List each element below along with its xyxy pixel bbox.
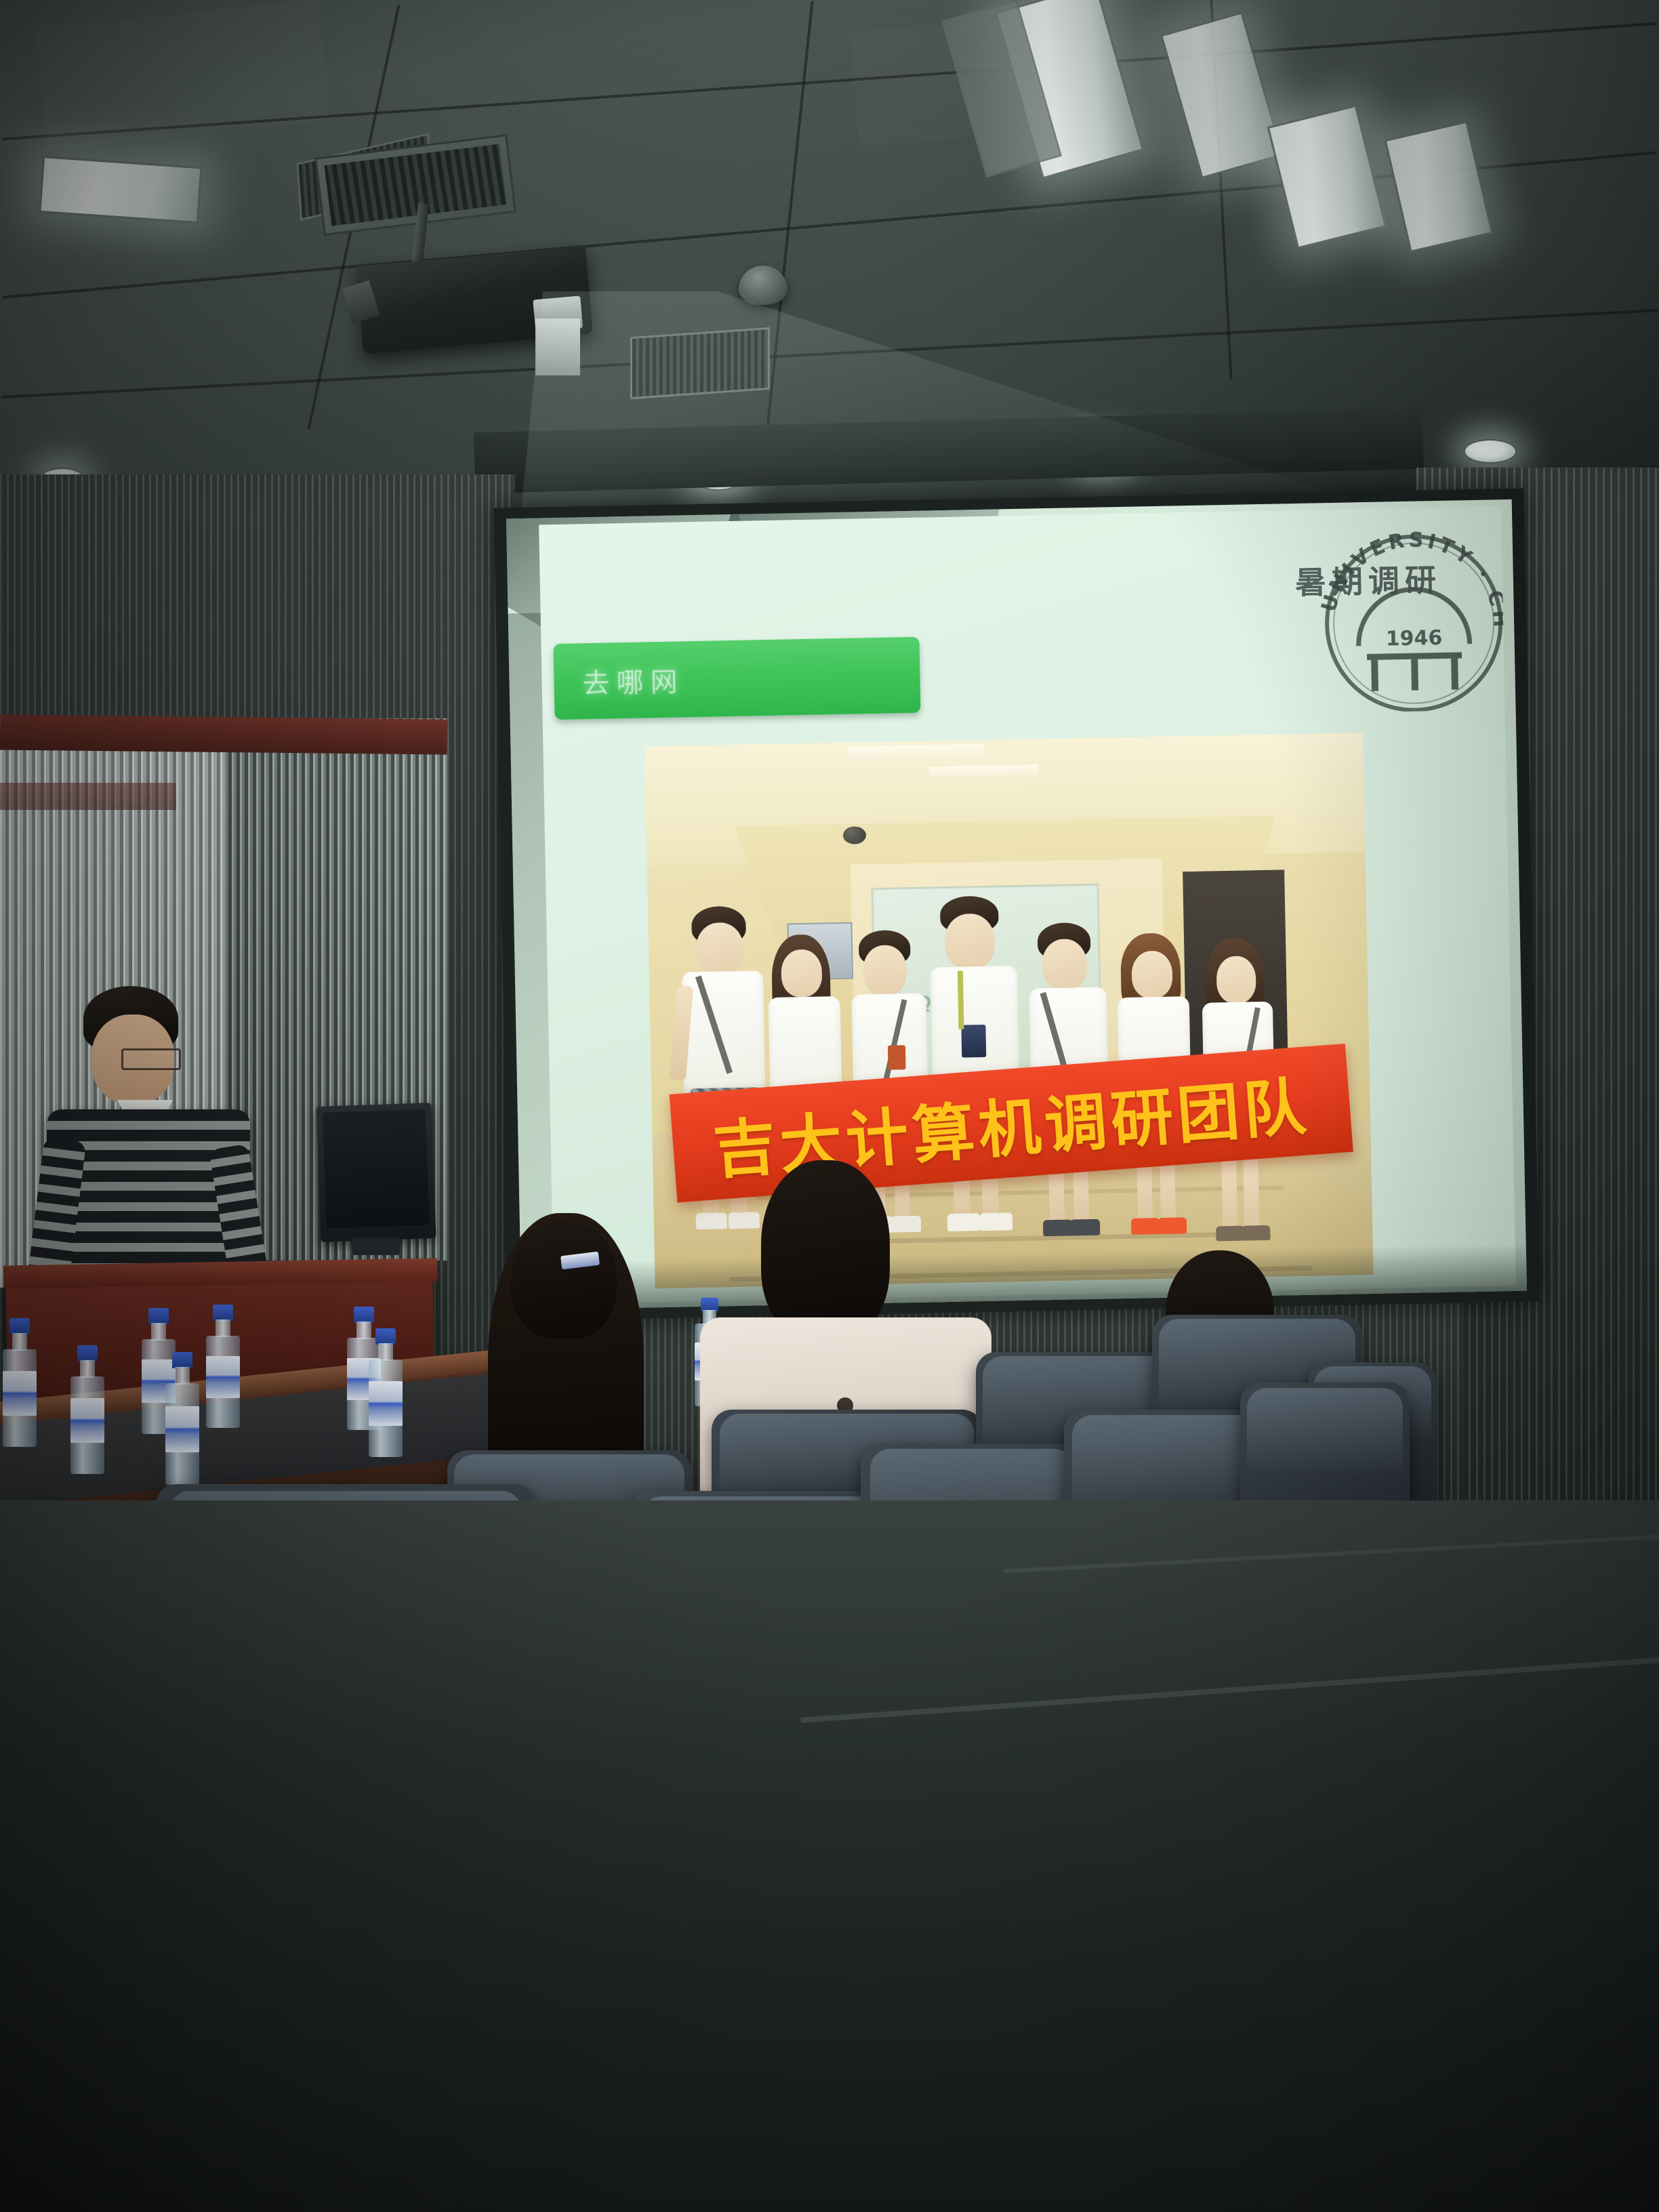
wall-maroon-trim: [0, 715, 447, 755]
lanyard-badge: [961, 1025, 986, 1058]
ceiling-dome-speaker: [739, 266, 787, 305]
bottle-label: [70, 1398, 104, 1443]
slide-group-photo: Qunar ←: [644, 733, 1373, 1288]
eyeglasses-icon: [121, 1048, 181, 1070]
monitor-screen: [323, 1109, 430, 1228]
presentation-slide: 暑期调研 UNIVERSITY · CH: [539, 506, 1516, 1304]
floor: [0, 1500, 1659, 2212]
slide-green-title-bar: 去哪网: [553, 637, 920, 720]
svg-text:UNIVERSITY · CH: UNIVERSITY · CH: [1315, 526, 1512, 634]
university-seal-logo: UNIVERSITY · CH 1946: [1311, 513, 1512, 714]
slide-header: 暑期调研: [539, 547, 1442, 627]
projection-screen-frame: 暑期调研 UNIVERSITY · CH: [494, 489, 1540, 1322]
water-bottle[interactable]: [0, 1318, 39, 1447]
bottle-label: [206, 1356, 240, 1398]
bottle-label: [165, 1406, 199, 1452]
water-bottle[interactable]: [68, 1345, 107, 1474]
projector-bracket-foot: [535, 319, 580, 375]
projection-screen-surface: 暑期调研 UNIVERSITY · CH: [506, 499, 1527, 1310]
ceiling-air-vent: [630, 327, 770, 399]
bottle-label: [3, 1371, 37, 1416]
ceiling-troffer-light: [39, 156, 202, 224]
slide-green-bar-label: 去哪网: [582, 659, 684, 701]
ceiling-downlight: [1464, 439, 1517, 464]
bottle-label: [369, 1381, 403, 1426]
monitor-stand: [352, 1237, 400, 1255]
ceiling-troffer-light: [1267, 104, 1387, 249]
seal-year: 1946: [1385, 626, 1442, 651]
ceiling-troffer-light: [1384, 121, 1493, 253]
ceiling-troffer-light: [1160, 12, 1284, 179]
water-bottle[interactable]: [163, 1352, 202, 1485]
podium-monitor[interactable]: [316, 1103, 436, 1242]
water-bottle[interactable]: [203, 1305, 243, 1428]
conference-room-photo: 暑期调研 UNIVERSITY · CH: [0, 0, 1659, 2212]
wall-maroon-trim: [0, 783, 176, 810]
water-bottle[interactable]: [366, 1328, 405, 1457]
